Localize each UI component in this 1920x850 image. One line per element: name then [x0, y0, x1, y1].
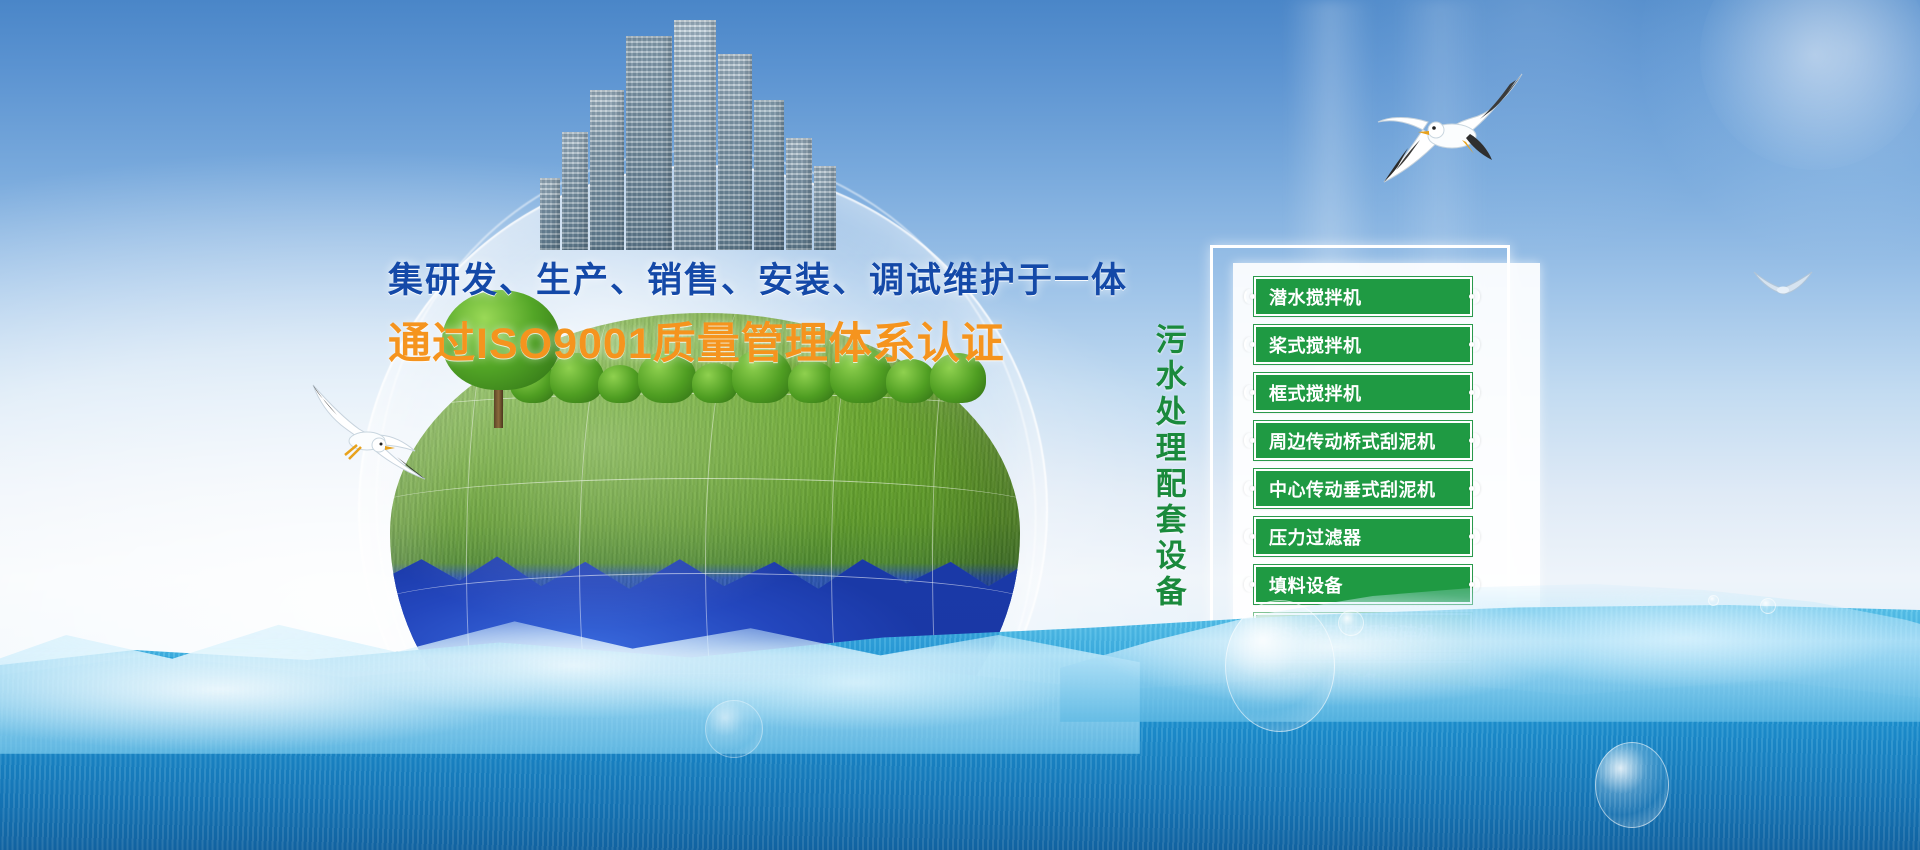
connector-bracket-icon	[1468, 481, 1482, 496]
bubble-icon	[1595, 742, 1669, 828]
connector-bracket-icon	[1468, 337, 1482, 352]
connector-bracket-icon	[1242, 433, 1256, 448]
panel-vertical-title: 污水处理配套设备	[1152, 323, 1184, 611]
connector-bracket-icon	[1242, 481, 1256, 496]
product-button[interactable]: 压力过滤器	[1254, 517, 1472, 556]
connector-bracket-icon	[1468, 433, 1482, 448]
connector-bracket-icon	[1468, 625, 1482, 640]
product-item[interactable]: 大型冶金设备	[1246, 658, 1528, 706]
connector-bracket-icon	[1242, 337, 1256, 352]
connector-bracket-icon	[1242, 625, 1256, 640]
connector-bracket-icon	[1468, 289, 1482, 304]
product-item[interactable]: 潜水搅拌机	[1246, 274, 1528, 322]
product-item[interactable]: 压力过滤器	[1246, 514, 1528, 562]
product-item[interactable]: 桨式搅拌机	[1246, 322, 1528, 370]
product-panel: 污水处理配套设备 潜水搅拌机桨式搅拌机框式搅拌机周边传动桥式刮泥机中心传动垂式刮…	[1210, 245, 1510, 775]
seagull-icon	[1752, 268, 1816, 302]
connector-bracket-icon	[1468, 385, 1482, 400]
product-button[interactable]: PSX系列废钢破碎机	[1254, 613, 1472, 652]
product-button[interactable]: 大型冶金设备	[1254, 661, 1472, 700]
product-button[interactable]: 潜水搅拌机	[1254, 277, 1472, 316]
product-button[interactable]: 填料设备	[1254, 565, 1472, 604]
connector-bracket-icon	[1242, 289, 1256, 304]
seagull-icon	[305, 375, 435, 487]
lens-flare-small-icon	[1700, 0, 1920, 170]
connector-bracket-icon	[1468, 529, 1482, 544]
headline-line-2: 通过ISO9001质量管理体系认证	[388, 309, 1188, 371]
headline-line-1: 集研发、生产、销售、安装、调试维护于一体	[388, 252, 1188, 303]
product-item[interactable]: 周边传动桥式刮泥机	[1246, 418, 1528, 466]
product-list: 潜水搅拌机桨式搅拌机框式搅拌机周边传动桥式刮泥机中心传动垂式刮泥机压力过滤器填料…	[1246, 274, 1528, 706]
connector-bracket-icon	[1468, 673, 1482, 688]
seagull-icon	[1370, 62, 1540, 207]
connector-bracket-icon	[1468, 577, 1482, 592]
product-item[interactable]: PSX系列废钢破碎机	[1246, 610, 1528, 658]
product-button[interactable]: 桨式搅拌机	[1254, 325, 1472, 364]
product-button[interactable]: 中心传动垂式刮泥机	[1254, 469, 1472, 508]
hero-banner: 集研发、生产、销售、安装、调试维护于一体 通过ISO9001质量管理体系认证 污…	[0, 0, 1920, 850]
product-item[interactable]: 框式搅拌机	[1246, 370, 1528, 418]
bubble-icon	[1760, 598, 1776, 614]
product-item[interactable]: 填料设备	[1246, 562, 1528, 610]
connector-bracket-icon	[1242, 673, 1256, 688]
product-button[interactable]: 框式搅拌机	[1254, 373, 1472, 412]
connector-bracket-icon	[1242, 529, 1256, 544]
city-skyline-icon	[540, 20, 870, 250]
connector-bracket-icon	[1242, 577, 1256, 592]
product-item[interactable]: 中心传动垂式刮泥机	[1246, 466, 1528, 514]
bubble-icon	[1708, 595, 1719, 606]
product-button[interactable]: 周边传动桥式刮泥机	[1254, 421, 1472, 460]
lens-flare-icon	[1640, 0, 1920, 260]
connector-bracket-icon	[1242, 385, 1256, 400]
headline-group: 集研发、生产、销售、安装、调试维护于一体 通过ISO9001质量管理体系认证	[388, 252, 1188, 371]
